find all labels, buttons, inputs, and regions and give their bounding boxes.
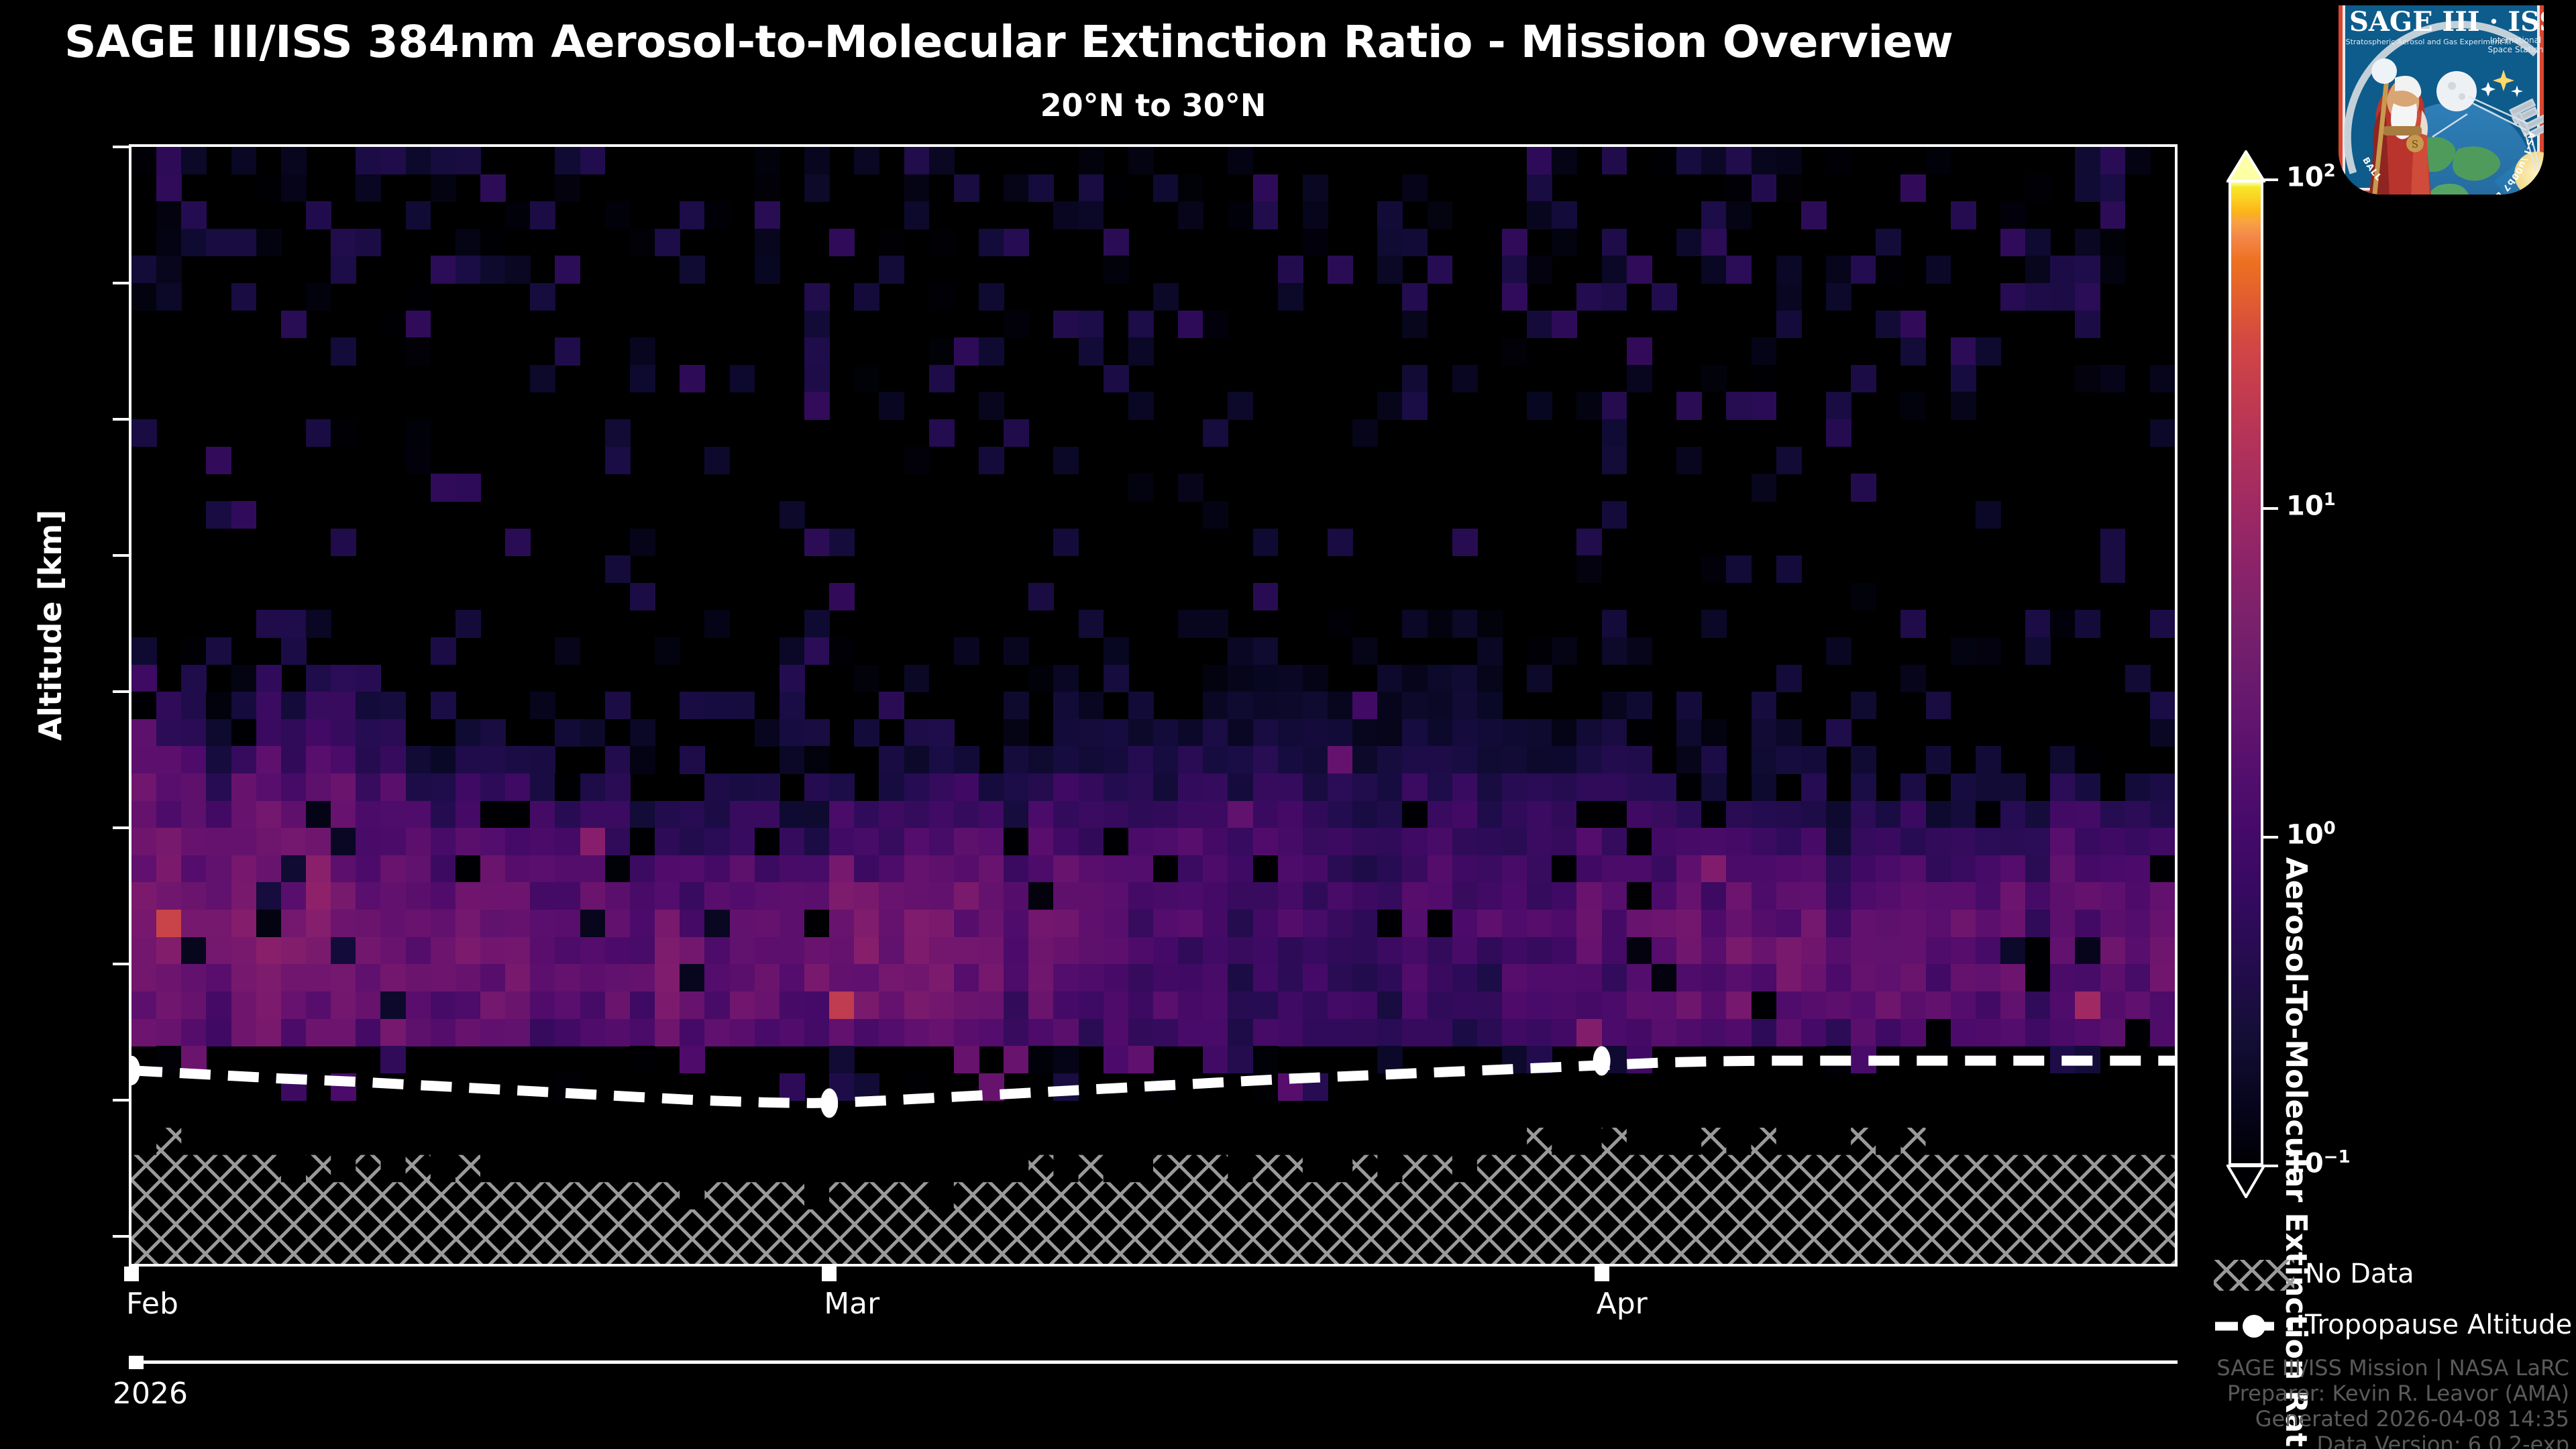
heatmap-cell	[1602, 392, 1627, 419]
heatmap-cell	[1701, 964, 1727, 991]
heatmap-cell	[804, 773, 830, 801]
heatmap-cell	[1452, 937, 1478, 965]
heatmap-cell	[730, 937, 755, 965]
heatmap-cell	[979, 229, 1004, 256]
heatmap-cell	[704, 201, 730, 229]
heatmap-cell	[755, 1019, 780, 1046]
heatmap-cell	[2150, 910, 2176, 937]
heatmap-cell	[1826, 828, 1851, 855]
heatmap-cell	[1278, 256, 1303, 283]
heatmap-cell	[530, 692, 555, 719]
heatmap-cell	[1477, 828, 1503, 855]
heatmap-cell	[1926, 964, 1951, 991]
heatmap-cell	[306, 419, 331, 447]
heatmap-cell	[954, 882, 979, 910]
heatmap-cell	[555, 1019, 580, 1046]
heatmap-cell	[1552, 1019, 1577, 1046]
heatmap-cell	[131, 828, 157, 855]
heatmap-cell	[1228, 147, 1253, 174]
heatmap-cell	[331, 937, 356, 965]
heatmap-cell	[431, 855, 456, 883]
heatmap-cell	[2050, 964, 2076, 991]
heatmap-cell	[630, 882, 655, 910]
heatmap-cell	[2100, 555, 2126, 583]
heatmap-cell	[1203, 501, 1228, 529]
heatmap-cell	[281, 773, 307, 801]
heatmap-cell	[505, 991, 531, 1019]
legend-item-no-data[interactable]: No Data	[2214, 1257, 2294, 1295]
heatmap-cell	[1602, 1019, 1627, 1046]
heatmap-cell	[530, 746, 555, 773]
heatmap-cell	[1153, 1073, 1179, 1101]
heatmap-cell	[2050, 746, 2076, 773]
heatmap-cell	[1079, 147, 1104, 174]
heatmap-cell	[256, 910, 282, 937]
heatmap-cell	[1278, 964, 1303, 991]
heatmap-cell	[755, 801, 780, 828]
footer-line: SAGE III/ISS Mission | NASA LaRC	[2216, 1355, 2569, 1381]
heatmap-cell	[804, 529, 830, 556]
heatmap-cell	[505, 746, 531, 773]
x-axis-tick	[822, 1267, 837, 1281]
heatmap-cell	[655, 229, 680, 256]
heatmap-cell	[231, 991, 257, 1019]
heatmap-cell	[1104, 773, 1129, 801]
heatmap-cell	[1602, 256, 1627, 283]
heatmap-cell	[730, 882, 755, 910]
heatmap-cell	[1303, 773, 1328, 801]
heatmap-cell	[2000, 855, 2026, 883]
heatmap-cell	[480, 1019, 506, 1046]
heatmap-cell	[1502, 719, 1527, 747]
heatmap-cell	[2125, 665, 2151, 692]
heatmap-cell	[1004, 1019, 1029, 1046]
heatmap-cell	[1627, 882, 1652, 910]
heatmap-cell	[156, 1046, 182, 1073]
heatmap-cell	[755, 229, 780, 256]
heatmap-cell	[131, 692, 157, 719]
heatmap-cell	[231, 501, 257, 529]
heatmap-cell	[1477, 937, 1503, 965]
heatmap-cell	[730, 773, 755, 801]
heatmap-cell	[904, 746, 930, 773]
heatmap-cell	[929, 937, 955, 965]
heatmap-cell	[1776, 719, 1802, 747]
heatmap-cell	[406, 337, 431, 365]
heatmap-cell	[1228, 964, 1253, 991]
x-axis-tick	[1595, 1267, 1609, 1281]
figure-canvas: SAGE III/ISS 384nm Aerosol-to-Molecular …	[0, 0, 2576, 1449]
heatmap-cell	[1053, 1046, 1079, 1073]
heatmap-cell	[431, 746, 456, 773]
heatmap-cell	[181, 773, 207, 801]
heatmap-cell	[1726, 392, 1752, 419]
colorbar-tick	[2263, 178, 2278, 181]
heatmap-cell	[655, 991, 680, 1019]
heatmap-cell	[1253, 719, 1279, 747]
heatmap-cell	[530, 773, 555, 801]
heatmap-cell	[1826, 392, 1851, 419]
heatmap-cell	[2125, 828, 2151, 855]
heatmap-cell	[331, 910, 356, 937]
heatmap-cell	[1178, 1019, 1203, 1046]
heatmap-cell	[655, 937, 680, 965]
heatmap-cell	[530, 882, 555, 910]
heatmap-cell	[1676, 801, 1702, 828]
page-title: SAGE III/ISS 384nm Aerosol-to-Molecular …	[64, 16, 1953, 68]
heatmap-cell	[1851, 773, 1876, 801]
heatmap-cell	[1253, 746, 1279, 773]
heatmap-cell	[1627, 1019, 1652, 1046]
heatmap-cell	[929, 365, 955, 392]
heatmap-cell	[954, 337, 979, 365]
heatmap-cell	[406, 447, 431, 474]
heatmap-cell	[829, 637, 855, 665]
heatmap-cell	[1627, 1046, 1652, 1073]
heatmap-cell	[1402, 610, 1428, 637]
heatmap-cell	[1203, 419, 1228, 447]
heatmap-cell	[356, 801, 381, 828]
heatmap-cell	[1801, 828, 1827, 855]
heatmap-cell	[505, 937, 531, 965]
heatmap-cell	[829, 1046, 855, 1073]
heatmap-cell	[1477, 991, 1503, 1019]
heatmap-cell	[1951, 801, 1976, 828]
heatmap-cell	[605, 882, 631, 910]
heatmap-cell	[580, 773, 606, 801]
heatmap-cell	[1428, 801, 1453, 828]
heatmap-cell	[356, 910, 381, 937]
heatmap-cell	[1228, 828, 1253, 855]
heatmap-cell	[1477, 610, 1503, 637]
heatmap-cell	[1253, 583, 1279, 610]
heatmap-cell	[1228, 855, 1253, 883]
heatmap-cell	[1203, 1046, 1228, 1073]
heatmap-cell	[380, 855, 406, 883]
heatmap-cell	[1253, 1046, 1279, 1073]
heatmap-cell	[1801, 801, 1827, 828]
heatmap-cell	[829, 529, 855, 556]
heatmap-cell	[730, 910, 755, 937]
heatmap-cell	[331, 337, 356, 365]
heatmap-cell	[605, 201, 631, 229]
heatmap-cell	[804, 801, 830, 828]
heatmap-cell	[1776, 1019, 1802, 1046]
heatmap-cell	[1004, 801, 1029, 828]
heatmap-cell	[2075, 937, 2100, 965]
heatmap-cell	[1527, 201, 1552, 229]
heatmap-cell	[431, 828, 456, 855]
heatmap-cell	[1278, 910, 1303, 937]
heatmap-cell	[2075, 991, 2100, 1019]
heatmap-cell	[181, 855, 207, 883]
heatmap-cell	[605, 773, 631, 801]
heatmap-cell	[406, 201, 431, 229]
heatmap-cell	[1701, 147, 1727, 174]
heatmap-cell	[954, 746, 979, 773]
heatmap-cell	[1253, 801, 1279, 828]
heatmap-cell	[1676, 855, 1702, 883]
heatmap-cell	[1178, 719, 1203, 747]
heatmap-cell	[1552, 991, 1577, 1019]
heatmap-cell	[1527, 256, 1552, 283]
heatmap-cell	[954, 1046, 979, 1073]
heatmap-cell	[1826, 937, 1851, 965]
heatmap-cell	[406, 311, 431, 338]
heatmap-cell	[1676, 882, 1702, 910]
heatmap-cell	[156, 283, 182, 311]
heatmap-cell	[1576, 283, 1602, 311]
heatmap-cell	[1328, 719, 1353, 747]
heatmap-cell	[131, 991, 157, 1019]
heatmap-cell	[704, 991, 730, 1019]
heatmap-cell	[555, 910, 580, 937]
heatmap-cell	[406, 991, 431, 1019]
heatmap-cell	[1004, 882, 1029, 910]
heatmap-cell	[1876, 991, 1901, 1019]
heatmap-cell	[979, 337, 1004, 365]
heatmap-cell	[1402, 910, 1428, 937]
heatmap-cell	[431, 174, 456, 202]
heatmap-cell	[1352, 773, 1378, 801]
footer-line: Data Version: 6.0.2-exp	[2216, 1432, 2569, 1449]
heatmap-cell	[455, 773, 481, 801]
heatmap-cell	[1428, 692, 1453, 719]
heatmap-cell	[1552, 801, 1577, 828]
heatmap-cell	[1627, 256, 1652, 283]
heatmap-cell	[1153, 910, 1179, 937]
heatmap-cell	[181, 746, 207, 773]
heatmap-cell	[1602, 447, 1627, 474]
heatmap-cell	[1178, 773, 1203, 801]
heatmap-cell	[1004, 311, 1029, 338]
heatmap-cell	[1203, 773, 1228, 801]
heatmap-cell	[2025, 828, 2051, 855]
y-axis-tick	[113, 146, 129, 148]
heatmap-cell	[1303, 719, 1328, 747]
heatmap-cell	[730, 801, 755, 828]
heatmap-cell	[1402, 174, 1428, 202]
heatmap-cell	[1776, 311, 1802, 338]
heatmap-cell	[630, 801, 655, 828]
heatmap-cell	[2150, 692, 2176, 719]
heatmap-cell	[1079, 337, 1104, 365]
heatmap-cell	[2100, 174, 2126, 202]
heatmap-cell	[1951, 1019, 1976, 1046]
heatmap-cell	[1377, 964, 1403, 991]
heatmap-cell	[1352, 882, 1378, 910]
heatmap-cell	[1726, 256, 1752, 283]
heatmap-cell	[181, 637, 207, 665]
heatmap-cell	[1676, 991, 1702, 1019]
heatmap-cell	[904, 964, 930, 991]
heatmap-cell	[580, 910, 606, 937]
heatmap-cell	[1726, 910, 1752, 937]
heatmap-cell	[780, 719, 805, 747]
heatmap-cell	[505, 529, 531, 556]
heatmap-cell	[256, 801, 282, 828]
heatmap-cell	[1278, 773, 1303, 801]
heatmap-cell	[1278, 746, 1303, 773]
heatmap-cell	[804, 746, 830, 773]
heatmap-cell	[1053, 719, 1079, 747]
heatmap-cell	[1228, 1046, 1253, 1073]
heatmap-cell	[1826, 910, 1851, 937]
heatmap-cell	[1128, 801, 1154, 828]
heatmap-cell	[1900, 610, 1926, 637]
heatmap-cell	[555, 991, 580, 1019]
heatmap-cell	[804, 610, 830, 637]
heatmap-cell	[1328, 801, 1353, 828]
heatmap-cell	[555, 337, 580, 365]
y-axis-tick	[113, 1235, 129, 1238]
heatmap-cell	[1303, 1073, 1328, 1101]
heatmap-cell	[1951, 637, 1976, 665]
heatmap-cell	[1602, 229, 1627, 256]
heatmap-cell	[2050, 256, 2076, 283]
heatmap-cell	[904, 773, 930, 801]
heatmap-cell	[231, 283, 257, 311]
heatmap-cell	[1278, 937, 1303, 965]
heatmap-cell	[1826, 855, 1851, 883]
heatmap-cell	[1377, 746, 1403, 773]
heatmap-cell	[1128, 855, 1154, 883]
heatmap-cell	[1428, 665, 1453, 692]
legend-item-tropopause[interactable]: Tropopause Altitude	[2214, 1308, 2294, 1346]
heatmap-cell	[1079, 828, 1104, 855]
heatmap-cell	[555, 174, 580, 202]
heatmap-cell	[1428, 855, 1453, 883]
heatmap-cell	[1576, 1019, 1602, 1046]
heatmap-cell	[206, 637, 231, 665]
heatmap-cell	[2100, 529, 2126, 556]
heatmap-cell	[1228, 692, 1253, 719]
heatmap-cell	[1900, 665, 1926, 692]
colorbar-extend-top-icon	[2226, 150, 2265, 182]
heatmap-cell	[1527, 855, 1552, 883]
heatmap-cell	[1477, 1019, 1503, 1046]
heatmap-cell	[904, 882, 930, 910]
heatmap-cell	[1278, 283, 1303, 311]
heatmap-cell	[1527, 719, 1552, 747]
footer-credits: SAGE III/ISS Mission | NASA LaRCPreparer…	[2216, 1355, 2569, 1449]
heatmap-cell	[879, 256, 904, 283]
heatmap-cell	[1228, 665, 1253, 692]
heatmap-cell	[406, 937, 431, 965]
heatmap-cell	[1826, 419, 1851, 447]
heatmap-cell	[879, 910, 904, 937]
heatmap-cell	[879, 855, 904, 883]
heatmap-cell	[1253, 529, 1279, 556]
heatmap-cell	[1328, 882, 1353, 910]
heatmap-cell	[1328, 828, 1353, 855]
heatmap-cell	[1153, 828, 1179, 855]
heatmap-cell	[256, 610, 282, 637]
legend-label: Tropopause Altitude	[2305, 1309, 2572, 1340]
heatmap-cell	[1153, 1019, 1179, 1046]
heatmap-cell	[1253, 937, 1279, 965]
heatmap-cell	[1826, 256, 1851, 283]
heatmap-cell	[1552, 311, 1577, 338]
heatmap-cell	[780, 910, 805, 937]
heatmap-cell	[1402, 283, 1428, 311]
heatmap-cell	[1752, 174, 1777, 202]
heatmap-cell	[1776, 665, 1802, 692]
heatmap-cell	[306, 773, 331, 801]
heatmap-cell	[2075, 610, 2100, 637]
heatmap-cell	[156, 882, 182, 910]
heatmap-cell	[156, 174, 182, 202]
heatmap-cell	[1079, 964, 1104, 991]
heatmap-cell	[1428, 610, 1453, 637]
heatmap-cell	[331, 665, 356, 692]
heatmap-cell	[1652, 855, 1677, 883]
heatmap-cell	[630, 337, 655, 365]
heatmap-cell	[206, 719, 231, 747]
heatmap-cell	[530, 991, 555, 1019]
heatmap-cell	[1676, 392, 1702, 419]
heatmap-cell	[231, 828, 257, 855]
heatmap-cell	[1228, 991, 1253, 1019]
heatmap-cell	[1527, 882, 1552, 910]
heatmap-cell	[256, 229, 282, 256]
heatmap-cell	[181, 828, 207, 855]
heatmap-cell	[2150, 882, 2176, 910]
heatmap-cell	[1776, 910, 1802, 937]
heatmap-cell	[406, 283, 431, 311]
heatmap-cell	[929, 964, 955, 991]
heatmap-cell	[1053, 447, 1079, 474]
heatmap-cell	[954, 828, 979, 855]
heatmap-cell	[904, 937, 930, 965]
heatmap-cell	[1328, 855, 1353, 883]
heatmap-cell	[1851, 910, 1876, 937]
heatmap-cell	[655, 1019, 680, 1046]
heatmap-cell	[1128, 964, 1154, 991]
heatmap-cell	[530, 801, 555, 828]
heatmap-cell	[206, 828, 231, 855]
heatmap-cell	[1104, 256, 1129, 283]
heatmap-cell	[1576, 910, 1602, 937]
heatmap-cell	[755, 719, 780, 747]
heatmap-cell	[281, 801, 307, 828]
heatmap-cell	[1104, 665, 1129, 692]
heatmap-cell	[256, 991, 282, 1019]
heatmap-cell	[1402, 937, 1428, 965]
heatmap-cell	[505, 201, 531, 229]
heatmap-cell	[1203, 665, 1228, 692]
heatmap-cell	[1377, 937, 1403, 965]
heatmap-cell	[356, 665, 381, 692]
heatmap-cell	[1726, 555, 1752, 583]
heatmap-cell	[1502, 964, 1527, 991]
heatmap-cell	[929, 719, 955, 747]
heatmap-cell	[206, 801, 231, 828]
heatmap-cell	[380, 1046, 406, 1073]
heatmap-cell	[1776, 147, 1802, 174]
heatmap-cell	[1377, 201, 1403, 229]
heatmap-cell	[1502, 937, 1527, 965]
heatmap-cell	[1428, 964, 1453, 991]
colorbar[interactable]: 10210110010−1	[2229, 180, 2263, 1166]
heatmap-cell	[929, 337, 955, 365]
heatmap-cell	[755, 828, 780, 855]
heatmap-cell	[156, 147, 182, 174]
heatmap-cell	[1253, 637, 1279, 665]
heatmap-cell	[1826, 1019, 1851, 1046]
heatmap-cell	[380, 828, 406, 855]
heatmap-cell	[1128, 991, 1154, 1019]
